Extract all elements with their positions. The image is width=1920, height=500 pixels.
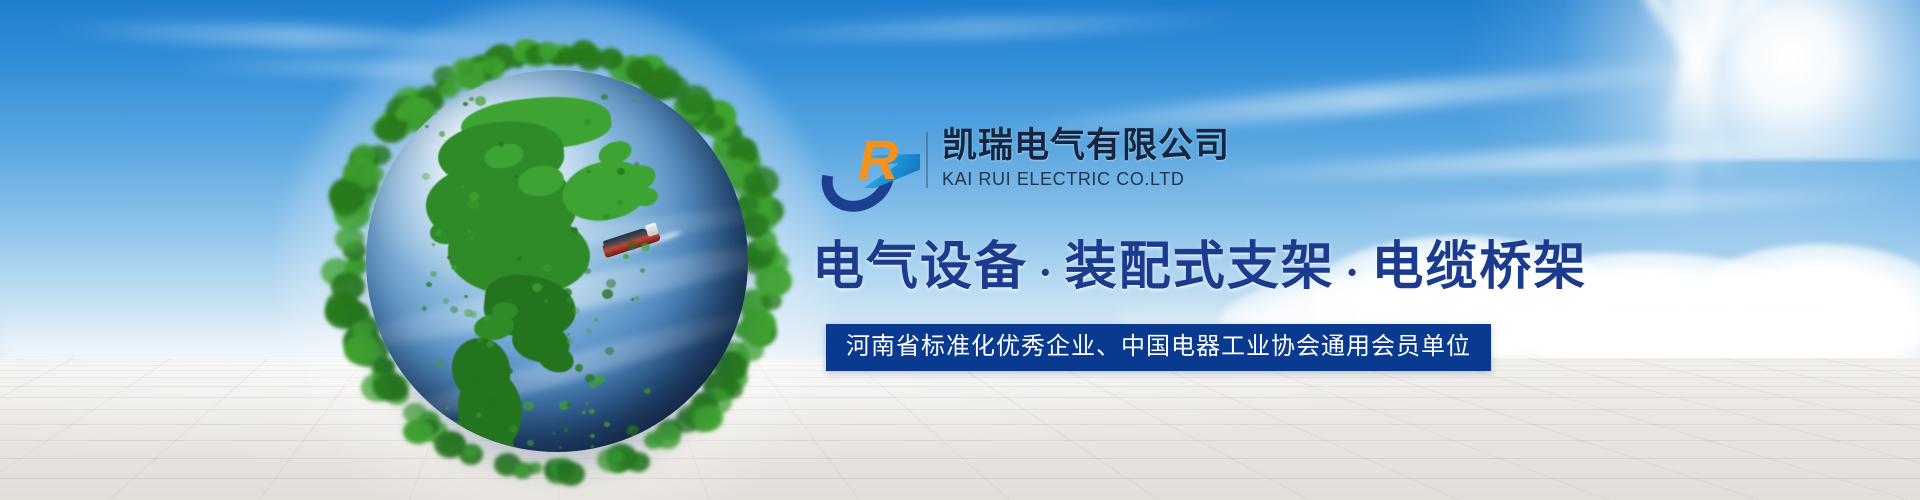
tree-cluster <box>335 227 364 252</box>
coast-speckle <box>470 236 474 240</box>
tree-cluster <box>439 83 457 98</box>
tree-cluster <box>705 115 725 132</box>
coast-speckle <box>543 264 552 272</box>
coast-speckle <box>584 119 591 125</box>
tree-cluster <box>677 85 712 115</box>
tree-cluster <box>331 272 365 302</box>
coast-speckle <box>571 227 578 233</box>
coast-speckle <box>641 243 650 251</box>
coast-speckle <box>527 440 534 446</box>
kairui-cr-logo-icon: R <box>820 130 916 192</box>
headline-part-1: 电气设备 <box>812 239 1028 296</box>
coast-speckle <box>577 129 582 134</box>
headline-part-3: 电缆桥架 <box>1371 239 1587 296</box>
coast-speckle <box>435 230 442 236</box>
tree-cluster <box>329 181 366 213</box>
coast-speckle <box>617 168 625 175</box>
coast-speckle <box>447 256 451 259</box>
coast-speckle <box>498 141 504 147</box>
hero-banner: R 凯瑞电气有限公司 KAI RUI ELECTRIC CO.LTD 电气设备·… <box>0 0 1920 500</box>
company-name-en: KAI RUI ELECTRIC CO.LTD <box>942 168 1230 190</box>
company-name-block: 凯瑞电气有限公司 KAI RUI ELECTRIC CO.LTD <box>942 126 1230 190</box>
coast-speckle <box>629 425 639 434</box>
green-earth-globe <box>332 44 780 484</box>
coast-speckle <box>544 299 548 303</box>
coast-speckle <box>567 333 570 336</box>
coast-speckle <box>586 402 589 405</box>
coast-speckle <box>567 297 574 303</box>
coast-speckle <box>428 406 434 412</box>
coast-speckle <box>640 268 645 273</box>
headline-separator: · <box>1028 248 1065 297</box>
banner-content: R 凯瑞电气有限公司 KAI RUI ELECTRIC CO.LTD 电气设备·… <box>818 126 1578 202</box>
coast-speckle <box>566 338 573 344</box>
coast-speckle <box>471 376 479 383</box>
tree-cluster <box>693 405 723 430</box>
coast-speckle <box>422 306 427 311</box>
coast-speckle <box>468 199 479 209</box>
coast-speckle <box>514 175 518 178</box>
coast-speckle <box>532 283 542 292</box>
coast-speckle <box>523 401 534 411</box>
coast-speckle <box>608 250 611 253</box>
coast-speckle <box>602 289 613 299</box>
coast-speckle <box>627 241 637 250</box>
credential-badge-text: 河南省标准化优秀企业、中国电器工业协会通用会员单位 <box>846 333 1471 360</box>
coast-speckle <box>482 446 490 452</box>
tree-cluster <box>326 300 354 324</box>
tree-cluster <box>514 464 528 476</box>
coast-speckle <box>552 431 556 435</box>
coast-speckle <box>422 173 430 180</box>
coast-speckle <box>445 406 449 410</box>
headline-part-2: 装配式支架 <box>1065 239 1335 296</box>
coast-speckle <box>564 428 568 432</box>
tree-cluster <box>390 385 407 400</box>
coast-speckle <box>486 341 494 348</box>
coast-speckle <box>469 97 474 101</box>
coast-speckle <box>623 441 633 450</box>
coast-speckle <box>451 421 461 430</box>
coast-speckle <box>463 102 468 106</box>
coast-speckle <box>517 256 522 261</box>
coast-speckle <box>617 200 623 205</box>
coast-speckle <box>506 368 513 374</box>
coast-speckle <box>623 254 629 259</box>
coast-speckle <box>477 338 482 343</box>
paved-plaza <box>0 358 1920 500</box>
coast-speckle <box>435 414 443 421</box>
coast-speckle <box>517 326 527 335</box>
coast-speckle <box>430 271 437 277</box>
pavement-joint <box>0 424 1920 425</box>
coast-speckle <box>509 425 518 433</box>
coast-speckle <box>575 364 583 372</box>
coast-speckle <box>603 214 610 220</box>
headline-separator: · <box>1335 248 1372 297</box>
coast-speckle <box>521 282 524 285</box>
coast-speckle <box>586 328 592 334</box>
coast-speckle <box>569 107 579 116</box>
pavement-joint <box>0 409 1920 410</box>
coast-speckle <box>562 288 572 297</box>
tree-cluster <box>653 424 681 448</box>
coast-speckle <box>584 268 591 274</box>
coast-speckle <box>587 170 590 173</box>
tree-cluster <box>598 48 623 70</box>
coast-speckle <box>596 199 602 204</box>
coast-speckle <box>632 99 635 102</box>
coast-speckle <box>604 422 610 427</box>
coast-speckle <box>605 347 614 355</box>
coast-speckle <box>631 298 634 301</box>
globe-sphere <box>366 70 748 452</box>
coast-speckle <box>606 279 616 288</box>
company-name-cn: 凯瑞电气有限公司 <box>942 126 1230 166</box>
coast-speckle <box>572 307 580 314</box>
coast-speckle <box>590 434 595 438</box>
coast-speckle <box>595 375 605 384</box>
brand-divider <box>926 132 928 188</box>
coast-speckle <box>450 306 458 313</box>
tree-cluster <box>755 265 792 297</box>
pavement-joint <box>0 377 1920 378</box>
coast-speckle <box>644 388 651 394</box>
coast-speckle <box>566 403 571 407</box>
coast-speckle <box>464 295 468 298</box>
coast-speckle <box>435 359 445 368</box>
coast-speckle <box>594 318 598 322</box>
coast-speckle <box>591 445 594 448</box>
tree-cluster <box>538 42 559 60</box>
coast-speckle <box>601 94 608 100</box>
pavement-joint <box>0 440 1920 441</box>
coast-speckle <box>630 433 640 442</box>
coast-speckle <box>470 311 477 318</box>
logo-r-letter: R <box>858 132 904 190</box>
coast-speckle <box>476 412 482 418</box>
coast-speckle <box>432 109 438 115</box>
coast-speckle <box>443 298 449 304</box>
coast-speckle <box>582 411 586 414</box>
pavement-joint <box>0 397 1920 398</box>
coast-speckle <box>484 315 490 321</box>
coast-speckle <box>451 265 457 270</box>
landmass <box>492 302 518 320</box>
coast-speckle <box>508 298 511 301</box>
coast-speckle <box>425 125 429 128</box>
coast-speckle <box>635 296 639 300</box>
brand-lockup: R 凯瑞电气有限公司 KAI RUI ELECTRIC CO.LTD <box>818 126 1578 202</box>
coast-speckle <box>547 280 553 285</box>
coast-speckle <box>461 185 464 188</box>
coast-speckle <box>487 397 498 407</box>
coast-speckle <box>432 243 435 246</box>
tree-cluster <box>483 57 504 75</box>
coast-speckle <box>426 282 432 287</box>
coast-speckle <box>559 446 562 449</box>
coast-speckle <box>530 313 536 319</box>
coast-speckle <box>439 131 445 137</box>
coast-speckle <box>468 230 471 233</box>
coast-speckle <box>589 409 595 414</box>
coast-speckle <box>634 162 639 166</box>
pavement-joint <box>0 478 1920 479</box>
page-title: 电气设备·装配式支架·电缆桥架 <box>812 224 1587 299</box>
coast-speckle <box>475 96 486 106</box>
credential-badge: 河南省标准化优秀企业、中国电器工业协会通用会员单位 <box>826 324 1491 371</box>
